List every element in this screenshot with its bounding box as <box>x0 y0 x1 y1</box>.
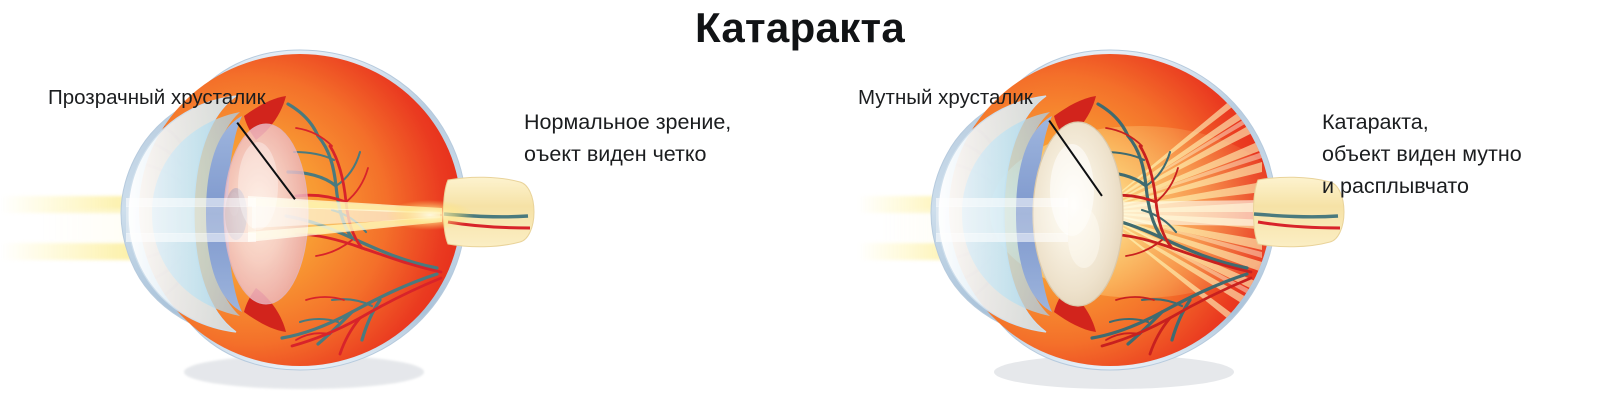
caption-normal-vision: Нормальное зрение, оъект виден четко <box>524 107 731 171</box>
caption-cataract-vision-line-3: и расплывчато <box>1322 171 1522 203</box>
caption-cataract-vision: Катаракта, объект виден мутно и расплывч… <box>1322 107 1522 202</box>
caption-cataract-vision-line-2: объект виден мутно <box>1322 139 1522 171</box>
caption-normal-vision-line-2: оъект виден четко <box>524 139 731 171</box>
diagram-canvas: Катаракта <box>0 0 1600 417</box>
annotation-layer: Прозрачный хрусталик Нормальное зрение, … <box>0 0 1600 417</box>
caption-cataract-vision-line-1: Катаракта, <box>1322 107 1522 139</box>
callout-cloudy-lens: Мутный хрусталик <box>858 88 1033 109</box>
callout-clear-lens: Прозрачный хрусталик <box>48 88 266 109</box>
caption-normal-vision-line-1: Нормальное зрение, <box>524 107 731 139</box>
